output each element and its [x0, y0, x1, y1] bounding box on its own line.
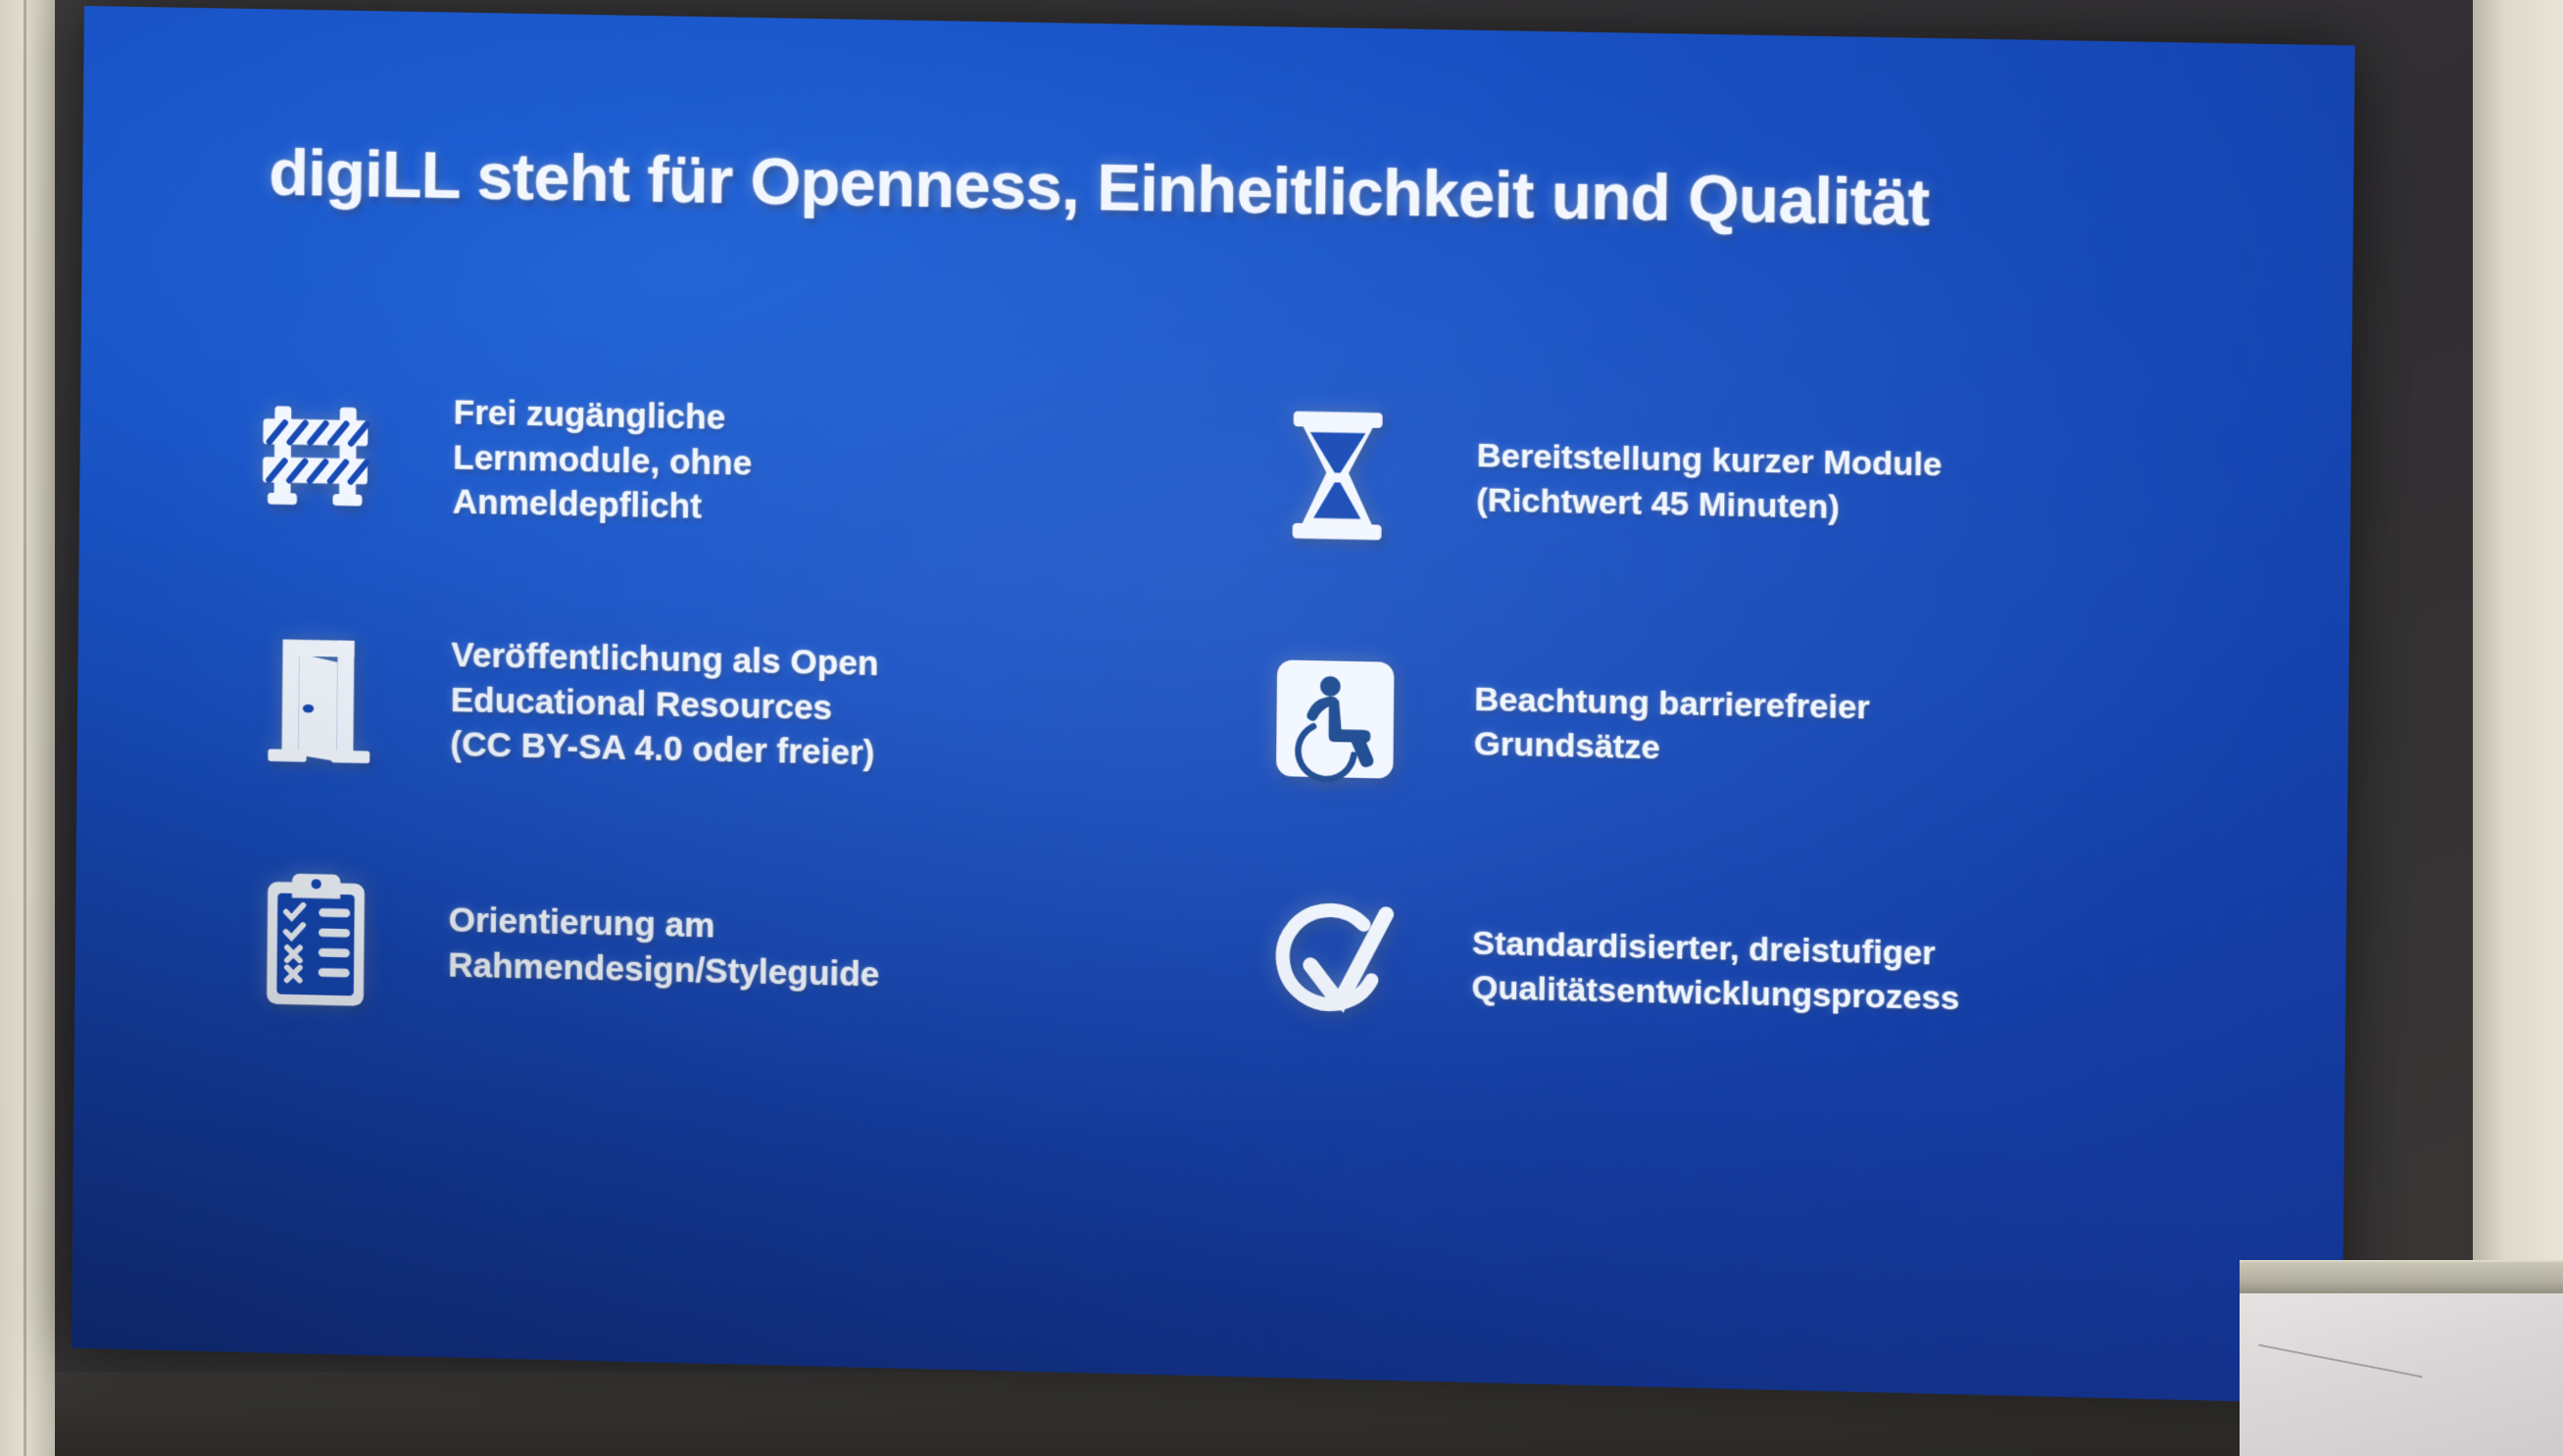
- flipchart-board: [2240, 1260, 2563, 1456]
- wall-left: [0, 0, 55, 1456]
- feature-item-styleguide: Orientierung am Rahmendesign/Styleguide: [241, 817, 1196, 1082]
- feature-line: (Richtwert 45 Minuten): [1476, 478, 1942, 531]
- feature-item-accessibility: Beachtung barrierefreier Grundsätze: [1255, 596, 2219, 860]
- feature-item-short-modules: Bereitstellung kurzer Module (Richtwert …: [1257, 352, 2221, 615]
- wall-seam: [24, 0, 26, 1456]
- slide-content: digiLL steht für Openness, Einheitlichke…: [72, 6, 2355, 1404]
- feature-text-styleguide: Orientierung am Rahmendesign/Styleguide: [448, 898, 880, 997]
- feature-line: Grundsätze: [1474, 722, 1870, 774]
- wheelchair-accessibility-icon: [1255, 638, 1415, 799]
- feature-text-oer: Veröffentlichung als Open Educational Re…: [450, 633, 879, 777]
- feature-grid: Frei zugängliche Lernmodule, ohne Anmeld…: [241, 332, 2222, 1104]
- slide-title: digiLL steht für Openness, Einheitlichke…: [269, 134, 2203, 245]
- projected-slide: digiLL steht für Openness, Einheitlichke…: [72, 6, 2355, 1404]
- feature-line: (CC BY-SA 4.0 oder freier): [450, 722, 878, 776]
- clipboard-checklist-icon: [241, 859, 390, 1020]
- flipchart-paper: [2240, 1293, 2563, 1456]
- feature-text-open-access: Frei zugängliche Lernmodule, ohne Anmeld…: [453, 390, 753, 531]
- feature-line: Beachtung barrierefreier: [1474, 678, 1870, 730]
- wall-right: [2473, 0, 2563, 1456]
- cycle-checkmark-icon: [1253, 882, 1413, 1043]
- slide-canvas: digiLL steht für Openness, Einheitlichke…: [72, 6, 2355, 1404]
- feature-item-oer: Veröffentlichung als Open Educational Re…: [243, 574, 1198, 837]
- feature-line: Lernmodule, ohne: [453, 435, 752, 486]
- feature-line: Rahmendesign/Styleguide: [448, 943, 880, 997]
- flipchart-rail: [2240, 1260, 2563, 1295]
- barrier-icon: [246, 375, 395, 535]
- room-environment: digiLL steht für Openness, Einheitlichke…: [0, 0, 2563, 1456]
- feature-item-open-access: Frei zugängliche Lernmodule, ohne Anmeld…: [246, 332, 1201, 594]
- flipchart-crease: [2258, 1344, 2422, 1378]
- feature-text-short-modules: Bereitstellung kurzer Module (Richtwert …: [1476, 434, 1942, 531]
- feature-item-quality-process: Standardisierter, dreistufiger Qualitäts…: [1253, 839, 2217, 1104]
- feature-text-accessibility: Beachtung barrierefreier Grundsätze: [1474, 678, 1870, 774]
- feature-text-quality-process: Standardisierter, dreistufiger Qualitäts…: [1471, 921, 1960, 1020]
- feature-line: Frei zugängliche: [453, 390, 752, 441]
- feature-line: Anmeldepflicht: [453, 480, 752, 531]
- hourglass-icon: [1257, 395, 1418, 556]
- open-door-icon: [244, 617, 393, 777]
